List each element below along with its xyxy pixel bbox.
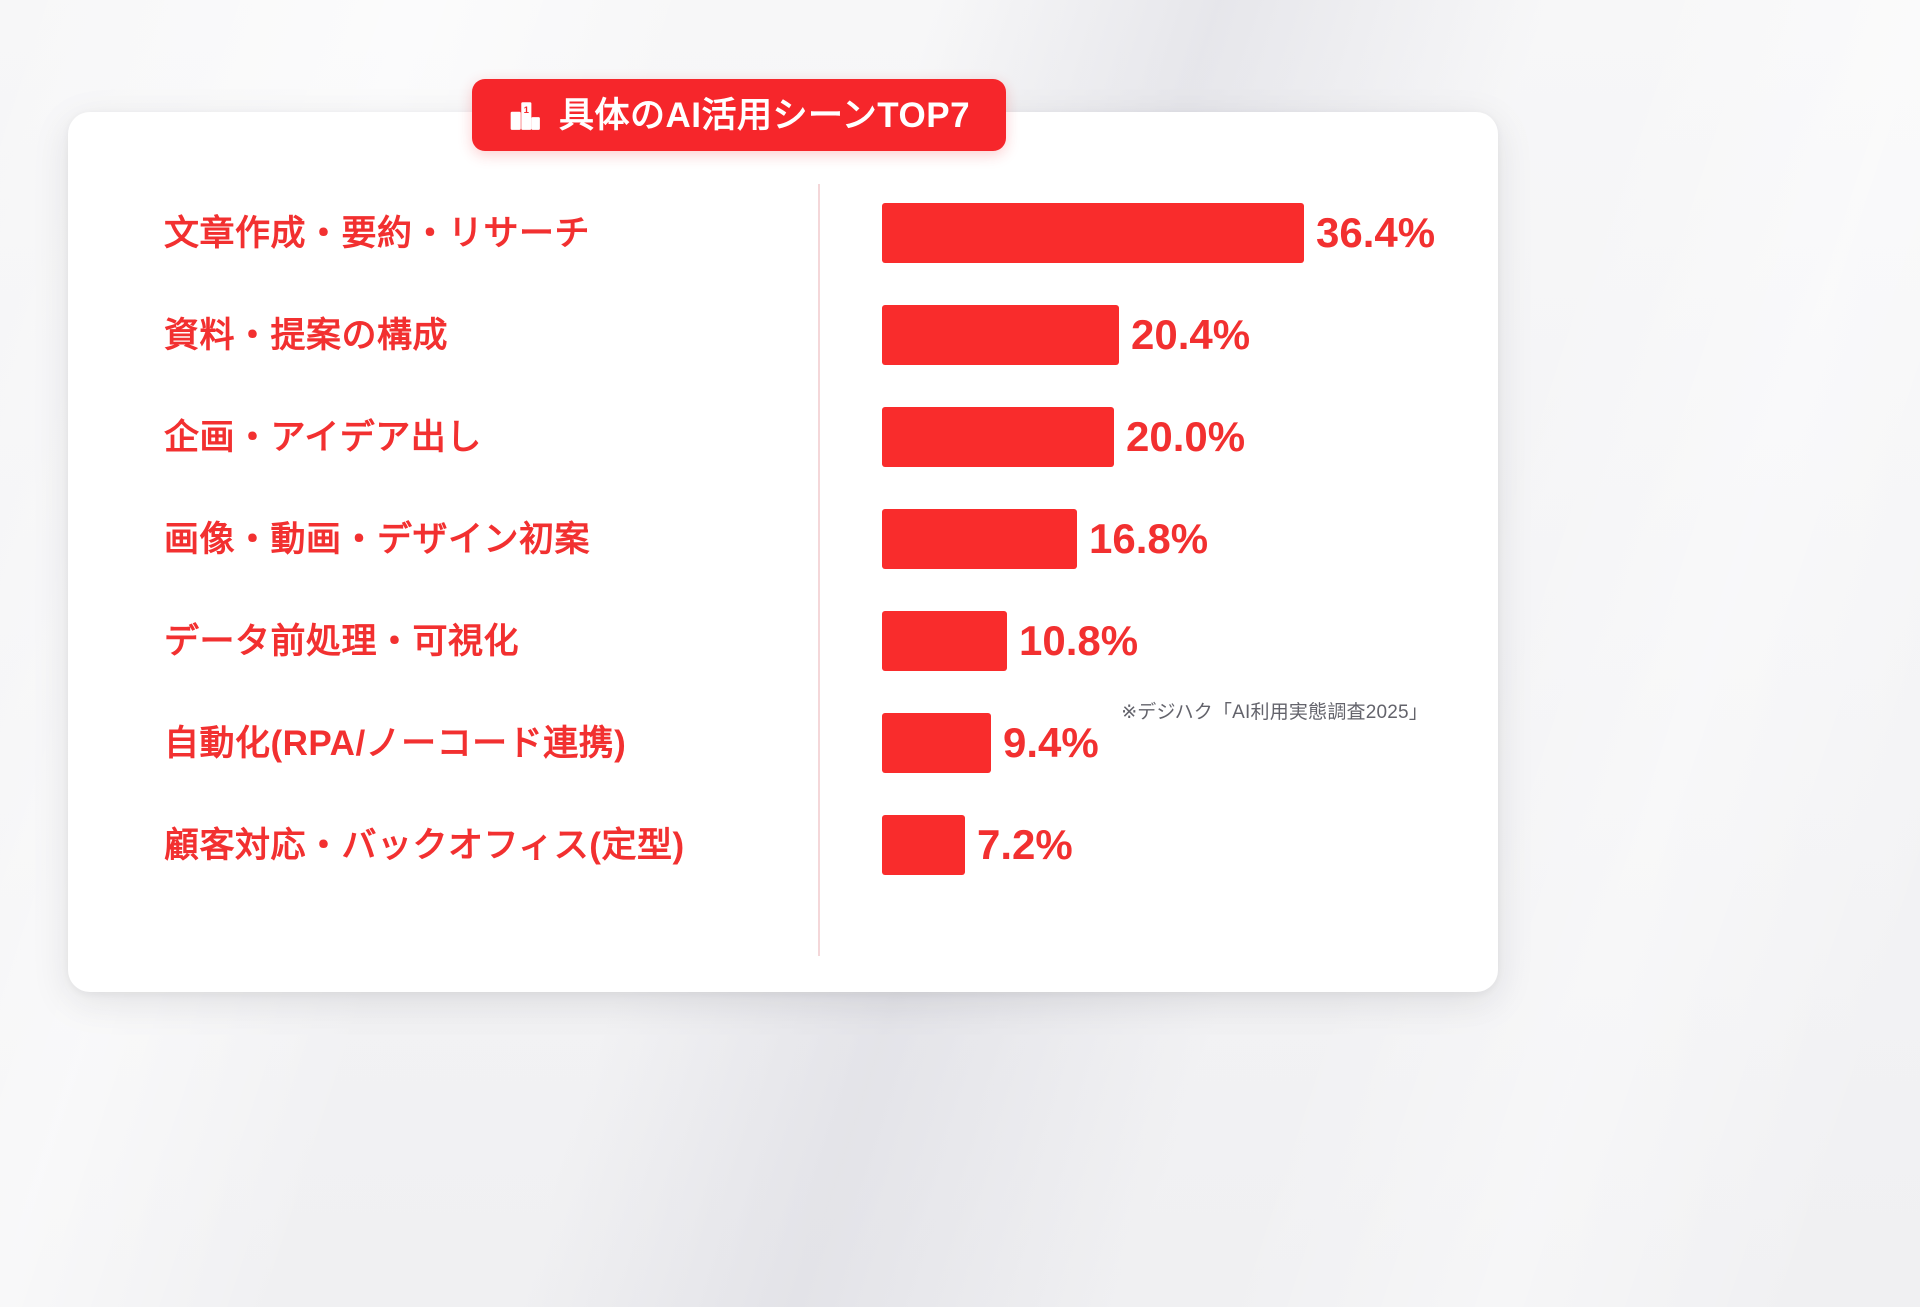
chart-row: 顧客対応・バックオフィス(定型)7.2% (68, 808, 1498, 882)
bar-group: 9.4% (882, 706, 1099, 780)
bar-category-label: 資料・提案の構成 (164, 318, 794, 353)
chart-row: 企画・アイデア出し20.0% (68, 400, 1498, 474)
svg-text:1: 1 (524, 105, 530, 116)
bar-group: 7.2% (882, 808, 1073, 882)
bar-chart-podium-icon: 1 (508, 99, 542, 133)
chart-card: 文章作成・要約・リサーチ36.4%資料・提案の構成20.4%企画・アイデア出し2… (68, 112, 1498, 992)
screenshot-canvas: 文章作成・要約・リサーチ36.4%資料・提案の構成20.4%企画・アイデア出し2… (0, 0, 1920, 1307)
bar-value-label: 36.4% (1316, 212, 1435, 254)
bar-group: 36.4% (882, 196, 1435, 270)
bar (882, 815, 965, 875)
source-footnote: ※デジハク「AI利用実態調査2025」 (1121, 697, 1428, 724)
chart-row: 画像・動画・デザイン初案16.8% (68, 502, 1498, 576)
bar-value-label: 9.4% (1003, 722, 1099, 764)
bar-value-label: 20.4% (1131, 314, 1250, 356)
chart-row: 文章作成・要約・リサーチ36.4% (68, 196, 1498, 270)
chart-row: 資料・提案の構成20.4% (68, 298, 1498, 372)
bar-category-label: 顧客対応・バックオフィス(定型) (164, 828, 794, 863)
bar-group: 20.0% (882, 400, 1245, 474)
bar-value-label: 20.0% (1126, 416, 1245, 458)
bar (882, 713, 991, 773)
bar-value-label: 7.2% (977, 824, 1073, 866)
chart-title-badge: 1 具体のAI活用シーンTOP7 (472, 79, 1006, 151)
chart-title-text: 具体のAI活用シーンTOP7 (559, 98, 970, 133)
horizontal-bar-chart: 文章作成・要約・リサーチ36.4%資料・提案の構成20.4%企画・アイデア出し2… (68, 112, 1498, 992)
bar-category-label: 企画・アイデア出し (164, 420, 794, 455)
bar-value-label: 16.8% (1089, 518, 1208, 560)
bar-category-label: 自動化(RPA/ノーコード連携) (164, 726, 794, 761)
bar (882, 203, 1304, 263)
bar-value-label: 10.8% (1019, 620, 1138, 662)
bar-category-label: 文章作成・要約・リサーチ (164, 216, 794, 251)
chart-row: データ前処理・可視化10.8% (68, 604, 1498, 678)
bar-group: 10.8% (882, 604, 1138, 678)
bar (882, 509, 1077, 569)
bar-category-label: 画像・動画・デザイン初案 (164, 522, 794, 557)
bar (882, 611, 1007, 671)
bar-group: 20.4% (882, 298, 1250, 372)
bar-group: 16.8% (882, 502, 1208, 576)
bar (882, 305, 1119, 365)
bar (882, 407, 1114, 467)
bar-category-label: データ前処理・可視化 (164, 624, 794, 659)
